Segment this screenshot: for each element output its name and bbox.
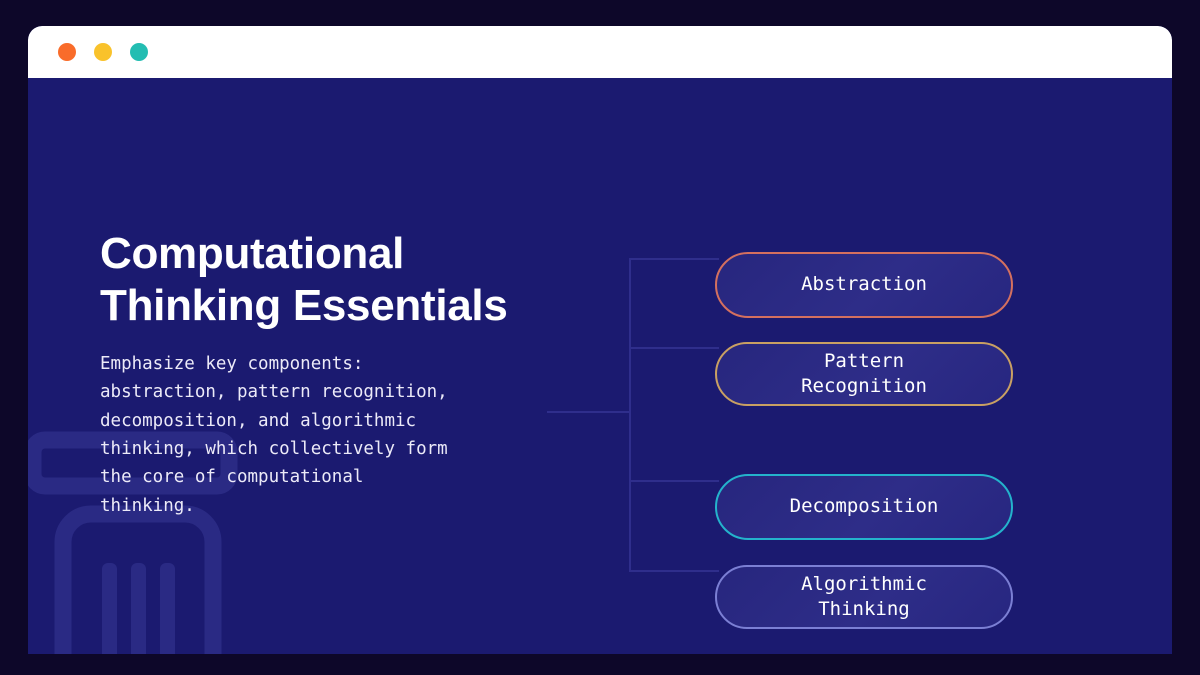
page-title: Computational Thinking Essentials	[100, 228, 550, 332]
node-card-decomposition[interactable]: Decomposition	[715, 474, 1013, 540]
maximize-dot[interactable]	[130, 43, 148, 61]
text-column: Computational Thinking Essentials Emphas…	[100, 228, 550, 520]
page-title-line-1: Computational	[100, 228, 550, 280]
minimize-dot[interactable]	[94, 43, 112, 61]
node-label: Abstraction	[801, 272, 927, 297]
node-label: Pattern Recognition	[801, 349, 927, 400]
node-card-algorithmic-thinking[interactable]: Algorithmic Thinking	[715, 565, 1013, 629]
body-paragraph: Emphasize key components: abstraction, p…	[100, 350, 550, 520]
node-card-pattern-recognition[interactable]: Pattern Recognition	[715, 342, 1013, 406]
browser-window: Computational Thinking Essentials Emphas…	[28, 26, 1172, 654]
slide-frame: Computational Thinking Essentials Emphas…	[0, 0, 1200, 675]
node-label: Decomposition	[790, 494, 939, 519]
node-label: Algorithmic Thinking	[801, 572, 927, 623]
close-dot[interactable]	[58, 43, 76, 61]
node-card-abstraction[interactable]: Abstraction	[715, 252, 1013, 318]
slide-canvas: Computational Thinking Essentials Emphas…	[28, 78, 1172, 654]
page-title-line-2: Thinking Essentials	[100, 280, 550, 332]
window-titlebar	[28, 26, 1172, 78]
